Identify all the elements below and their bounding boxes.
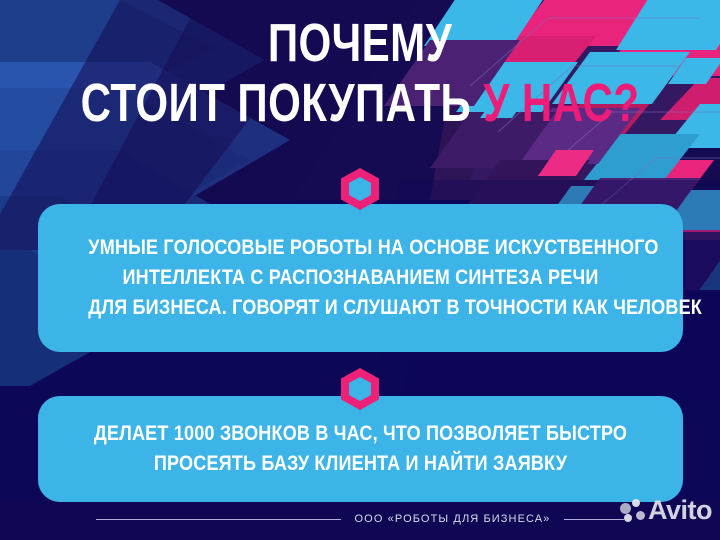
- benefit-card-2-line-2: ПРОСЕЯТЬ БАЗУ КЛИЕНТА И НАЙТИ ЗАЯВКУ: [88, 449, 632, 479]
- footer-rule-right: [564, 519, 624, 520]
- benefit-card-2-text: ДЕЛАЕТ 1000 ЗВОНКОВ В ЧАС, ЧТО ПОЗВОЛЯЕТ…: [83, 419, 638, 479]
- footer: ООО «РОБОТЫ ДЛЯ БИЗНЕСА»: [0, 508, 720, 530]
- avito-dots-icon: [620, 499, 646, 523]
- avito-watermark: Avito: [620, 497, 712, 524]
- title-line-1: ПОЧЕМУ: [79, 18, 641, 70]
- avito-wordmark: Avito: [648, 497, 712, 524]
- footer-rule-left: [96, 519, 341, 520]
- benefit-card-1-line-3: ДЛЯ БИЗНЕСА. ГОВОРЯТ И СЛУШАЮТ В ТОЧНОСТ…: [88, 293, 632, 323]
- promo-poster: ПОЧЕМУ СТОИТ ПОКУПАТЬ У НАС? УМНЫЕ ГОЛОС…: [0, 0, 720, 540]
- poster-title: ПОЧЕМУ СТОИТ ПОКУПАТЬ У НАС?: [0, 18, 720, 130]
- hexagon-badge-1: [341, 168, 379, 210]
- title-line-2: СТОИТ ПОКУПАТЬ У НАС?: [79, 78, 641, 130]
- benefit-card-1-line-1: УМНЫЕ ГОЛОСОВЫЕ РОБОТЫ НА ОСНОВЕ ИСКУСТВ…: [88, 233, 632, 263]
- benefit-card-1-line-2: ИНТЕЛЛЕКТА С РАСПОЗНАВАНИЕМ СИНТЕЗА РЕЧИ: [88, 263, 632, 293]
- benefit-card-2-line-1: ДЕЛАЕТ 1000 ЗВОНКОВ В ЧАС, ЧТО ПОЗВОЛЯЕТ…: [88, 419, 632, 449]
- title-line-2-accent: У НАС?: [483, 73, 639, 133]
- footer-company-name: ООО «РОБОТЫ ДЛЯ БИЗНЕСА»: [341, 513, 565, 525]
- title-line-2-plain: СТОИТ ПОКУПАТЬ: [81, 73, 484, 133]
- benefit-card-2: ДЕЛАЕТ 1000 ЗВОНКОВ В ЧАС, ЧТО ПОЗВОЛЯЕТ…: [38, 396, 683, 502]
- benefit-card-1: УМНЫЕ ГОЛОСОВЫЕ РОБОТЫ НА ОСНОВЕ ИСКУСТВ…: [38, 204, 683, 352]
- benefit-card-1-text: УМНЫЕ ГОЛОСОВЫЕ РОБОТЫ НА ОСНОВЕ ИСКУСТВ…: [83, 233, 638, 322]
- hexagon-badge-2: [341, 368, 379, 410]
